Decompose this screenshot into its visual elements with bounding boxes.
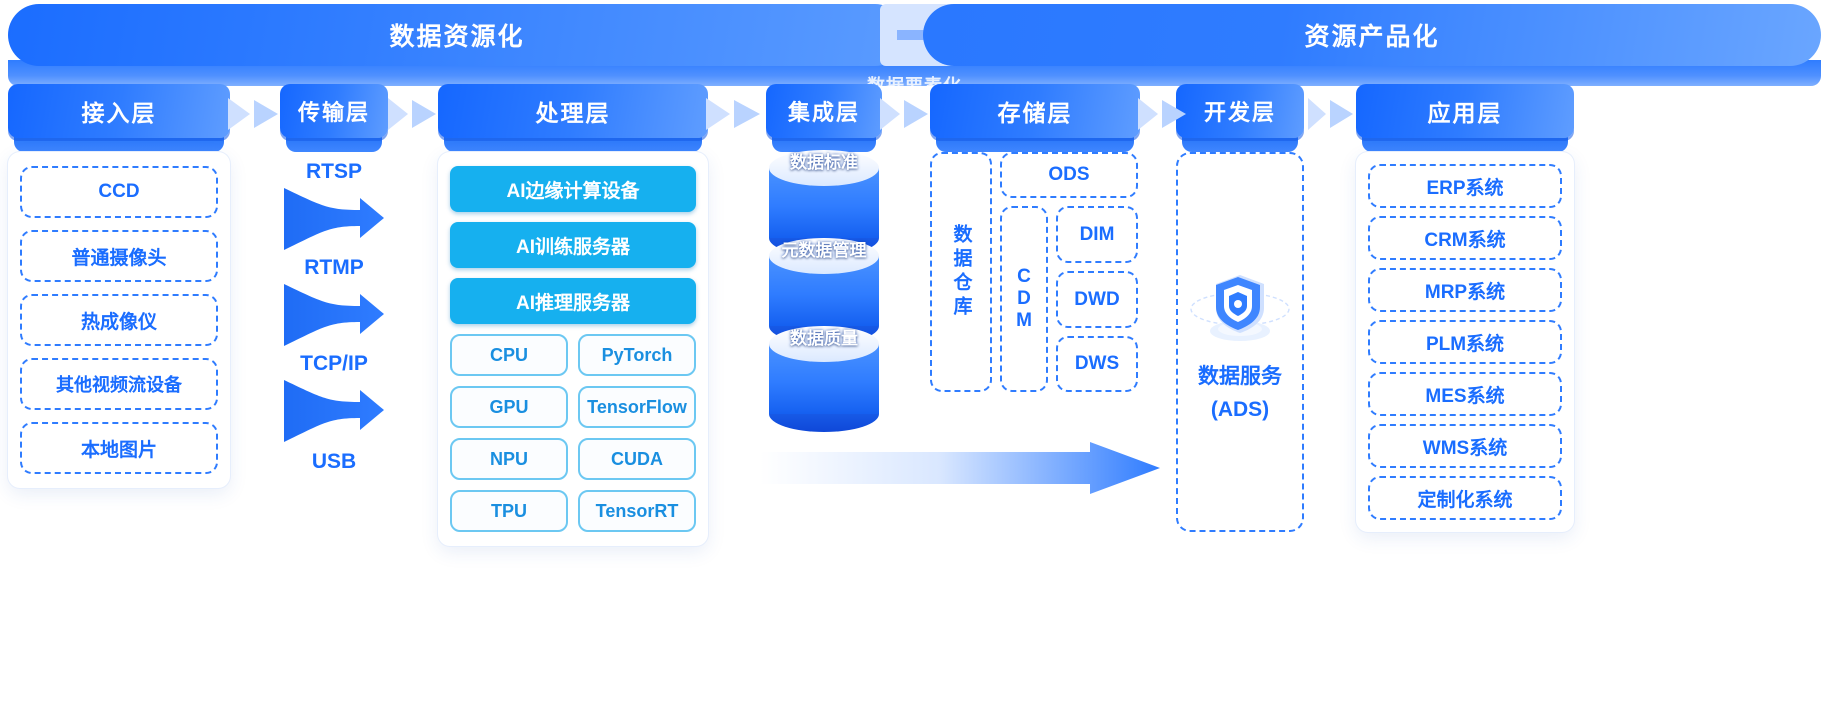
dwd-box[interactable]: DWD xyxy=(1056,271,1138,328)
flow-arrow-icon xyxy=(1138,92,1190,136)
framework-chip[interactable]: TensorFlow xyxy=(578,386,696,428)
processing-server[interactable]: AI训练服务器 xyxy=(450,222,696,268)
layer-development: 开发层 数据服务 (ADS) xyxy=(1176,84,1304,532)
dim-box[interactable]: DIM xyxy=(1056,206,1138,263)
hardware-chip[interactable]: TPU xyxy=(450,490,568,532)
architecture-diagram: 数据要素化 数据资源化 资源产品化 接入层 CCD 普通摄像头 热成像仪 其他视… xyxy=(0,0,1829,708)
layer-access-title: 接入层 xyxy=(8,84,230,138)
layer-access-panel: CCD 普通摄像头 热成像仪 其他视频流设备 本地图片 xyxy=(8,152,230,488)
layer-application-panel: ERP系统 CRM系统 MRP系统 PLM系统 MES系统 WMS系统 定制化系… xyxy=(1356,152,1574,532)
application-item[interactable]: PLM系统 xyxy=(1368,320,1562,364)
layer-integration-panel: 数据标准 元数据管理 数据质量 xyxy=(766,150,882,440)
access-item[interactable]: 其他视频流设备 xyxy=(20,358,218,410)
storage-model-group: ODS CDM DIM DWD DWS xyxy=(1000,152,1138,392)
framework-chip[interactable]: CUDA xyxy=(578,438,696,480)
application-item[interactable]: MES系统 xyxy=(1368,372,1562,416)
application-item[interactable]: ERP系统 xyxy=(1368,164,1562,208)
processing-chip-grid: CPU PyTorch GPU TensorFlow NPU CUDA TPU … xyxy=(450,334,696,532)
layer-processing-panel: AI边缘计算设备 AI训练服务器 AI推理服务器 CPU PyTorch GPU… xyxy=(438,152,708,546)
processing-server[interactable]: AI边缘计算设备 xyxy=(450,166,696,212)
cylinder-label: 元数据管理 xyxy=(769,236,879,261)
cdm-children: DIM DWD DWS xyxy=(1056,206,1138,392)
access-item[interactable]: CCD xyxy=(20,166,218,218)
flow-arrow-icon xyxy=(880,92,932,136)
application-item[interactable]: 定制化系统 xyxy=(1368,476,1562,520)
bottom-flow-arrow-icon xyxy=(760,442,1160,494)
hardware-chip[interactable]: CPU xyxy=(450,334,568,376)
application-item[interactable]: MRP系统 xyxy=(1368,268,1562,312)
cdm-label: CDM xyxy=(1015,266,1034,332)
flow-arrow-icon xyxy=(388,92,440,136)
layer-access: 接入层 CCD 普通摄像头 热成像仪 其他视频流设备 本地图片 xyxy=(8,84,230,488)
layer-transmission-title: 传输层 xyxy=(280,84,388,138)
cylinder-stack: 数据标准 元数据管理 数据质量 xyxy=(769,150,879,440)
flow-arrow-icon xyxy=(706,92,764,136)
dws-box[interactable]: DWS xyxy=(1056,336,1138,392)
application-item[interactable]: WMS系统 xyxy=(1368,424,1562,468)
layer-storage: 存储层 数据仓库 ODS CDM DIM DWD DWS xyxy=(930,84,1140,392)
access-item[interactable]: 热成像仪 xyxy=(20,294,218,346)
access-item[interactable]: 本地图片 xyxy=(20,422,218,474)
protocol-label: TCP/IP xyxy=(280,352,388,376)
hardware-chip[interactable]: GPU xyxy=(450,386,568,428)
data-service-name: 数据服务 xyxy=(1198,363,1282,390)
layer-integration: 集成层 数据标准 元数据管理 数据质量 xyxy=(766,84,882,440)
protocol-label: RTMP xyxy=(280,256,388,280)
stream-arrow-icon xyxy=(282,376,386,446)
data-service-code: (ADS) xyxy=(1211,396,1269,423)
processing-server[interactable]: AI推理服务器 xyxy=(450,278,696,324)
layer-application-title: 应用层 xyxy=(1356,84,1574,138)
layer-storage-title: 存储层 xyxy=(930,84,1140,138)
protocol-label: RTSP xyxy=(280,160,388,184)
layer-storage-panel: 数据仓库 ODS CDM DIM DWD DWS xyxy=(930,152,1140,392)
layer-processing-title: 处理层 xyxy=(438,84,708,138)
cylinder-label: 数据标准 xyxy=(769,148,879,173)
application-item[interactable]: CRM系统 xyxy=(1368,216,1562,260)
banner-resource-productization: 资源产品化 xyxy=(923,4,1821,66)
layer-integration-title: 集成层 xyxy=(766,84,882,138)
data-service-card[interactable]: 数据服务 (ADS) xyxy=(1176,152,1304,532)
cdm-box[interactable]: CDM xyxy=(1000,206,1048,392)
layer-development-title: 开发层 xyxy=(1176,84,1304,138)
ods-box[interactable]: ODS xyxy=(1000,152,1138,198)
top-banner-row: 数据资源化 资源产品化 xyxy=(8,4,1821,66)
access-item[interactable]: 普通摄像头 xyxy=(20,230,218,282)
protocol-label: USB xyxy=(280,450,388,474)
framework-chip[interactable]: TensorRT xyxy=(578,490,696,532)
cylinder-label: 数据质量 xyxy=(769,324,879,349)
framework-chip[interactable]: PyTorch xyxy=(578,334,696,376)
shield-data-icon xyxy=(1188,261,1292,357)
banner-data-resourcing: 数据资源化 xyxy=(8,4,906,66)
layer-transmission-panel: RTSP RTMP TCP/IP USB xyxy=(280,160,388,474)
hardware-chip[interactable]: NPU xyxy=(450,438,568,480)
layer-transmission: 传输层 RTSP RTMP TCP/IP USB xyxy=(280,84,388,474)
layer-application: 应用层 ERP系统 CRM系统 MRP系统 PLM系统 MES系统 WMS系统 … xyxy=(1356,84,1574,532)
stream-arrow-icon xyxy=(282,184,386,254)
cylinder[interactable]: 数据质量 xyxy=(769,326,879,430)
flow-arrow-icon xyxy=(1308,92,1356,136)
data-warehouse-label: 数据仓库 xyxy=(948,224,975,320)
layer-processing: 处理层 AI边缘计算设备 AI训练服务器 AI推理服务器 CPU PyTorch… xyxy=(438,84,708,546)
flow-arrow-icon xyxy=(228,92,282,136)
layer-development-panel: 数据服务 (ADS) xyxy=(1176,152,1304,532)
stream-arrow-icon xyxy=(282,280,386,350)
data-warehouse-box[interactable]: 数据仓库 xyxy=(930,152,992,392)
cdm-group: CDM DIM DWD DWS xyxy=(1000,206,1138,392)
